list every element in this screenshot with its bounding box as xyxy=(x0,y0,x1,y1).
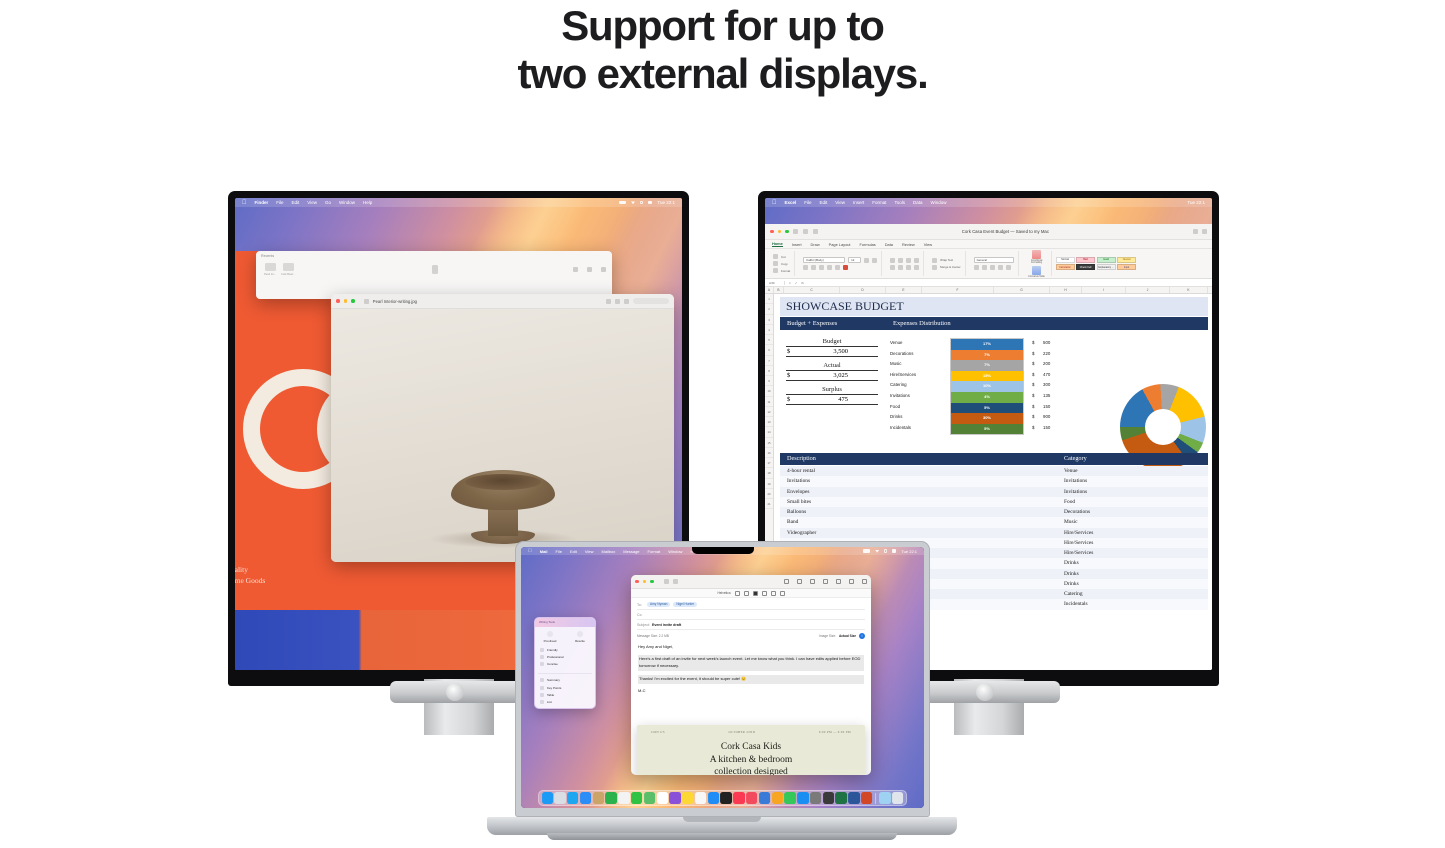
menu-item-data[interactable]: Data xyxy=(913,200,923,205)
menu-item-edit[interactable]: Edit xyxy=(292,200,300,205)
dock-icon-news[interactable] xyxy=(746,792,757,803)
clipboard-copy[interactable]: Copy xyxy=(773,261,790,266)
indent-icon[interactable] xyxy=(780,591,785,596)
row-15[interactable]: 15 xyxy=(765,438,773,448)
dock-icon-calculator[interactable] xyxy=(823,792,834,803)
col-c[interactable]: C xyxy=(784,287,840,293)
format-label: List xyxy=(547,700,552,704)
insert-function-icon[interactable]: fx xyxy=(801,281,803,285)
increase-decimal-icon[interactable] xyxy=(998,265,1003,270)
align-bottom-icon[interactable] xyxy=(906,258,911,263)
list-icon[interactable] xyxy=(771,591,776,596)
row-19[interactable]: 19 xyxy=(765,479,773,489)
poster-text-line-2: ...me Goods xyxy=(235,575,265,586)
menu-item-edit[interactable]: Edit xyxy=(820,200,828,205)
maximize-icon[interactable] xyxy=(351,299,355,303)
attach-icon[interactable] xyxy=(673,579,678,584)
mail-compose-window[interactable]: Helvetica To: Amy Nyman Nigel Hunter xyxy=(631,575,871,775)
markup-icon[interactable] xyxy=(606,299,611,304)
apple-menu-icon[interactable]:  xyxy=(528,549,532,554)
format-font-select[interactable]: Helvetica xyxy=(717,591,730,595)
row-13[interactable]: 13 xyxy=(765,417,773,427)
menu-item-file[interactable]: File xyxy=(556,549,562,554)
menu-item-view[interactable]: View xyxy=(835,200,845,205)
underline-icon[interactable] xyxy=(819,265,824,270)
dock-icon-calendar[interactable] xyxy=(657,792,668,803)
dock-icon-numbers[interactable] xyxy=(784,792,795,803)
col-b[interactable]: B xyxy=(774,287,784,293)
category-label: Incidentals xyxy=(890,423,948,434)
redo-icon[interactable] xyxy=(813,229,818,234)
sidebar-icon[interactable] xyxy=(364,299,369,304)
mail-header-fields[interactable]: To: Amy Nyman Nigel Hunter Cc: Subject: … xyxy=(631,598,871,630)
tab-page-layout[interactable]: Page Layout xyxy=(829,242,851,247)
subject-field-row[interactable]: Subject: Event invite draft xyxy=(637,621,865,628)
alignment-row-2[interactable] xyxy=(890,265,919,270)
minimize-icon[interactable] xyxy=(344,299,348,303)
markup-icon[interactable] xyxy=(797,579,802,584)
ribbon-group-alignment[interactable] xyxy=(886,251,924,276)
dock-icon-music[interactable] xyxy=(733,792,744,803)
bold-icon[interactable] xyxy=(803,265,808,270)
preview-toolbar[interactable]: Pearl Interior-writing.jpg xyxy=(331,294,674,309)
amount-row: $300 xyxy=(1032,380,1072,391)
clipboard-cut[interactable]: Cut xyxy=(773,254,790,259)
style-normal[interactable]: Normal xyxy=(1056,257,1075,263)
align-top-icon[interactable] xyxy=(890,258,895,263)
alignment-row-1[interactable] xyxy=(890,258,919,263)
image-size-label: Image Size: xyxy=(819,634,836,638)
italic-icon[interactable] xyxy=(744,591,749,596)
dock-icon-settings[interactable] xyxy=(810,792,821,803)
summary-actual-value-row: $ 3,025 xyxy=(786,371,878,381)
writing-tools-tones[interactable]: Friendly Professional Concise xyxy=(535,646,595,672)
expenses-distribution-chart: Venue Decorations Music Hire/Services Ca… xyxy=(890,338,1208,444)
borders-icon[interactable] xyxy=(827,265,832,270)
autosave-icon[interactable] xyxy=(793,229,798,234)
percent-icon[interactable] xyxy=(982,265,987,270)
cell-styles-gallery[interactable]: Normal Bad Good Neutral Calculation Chec… xyxy=(1056,251,1137,276)
row-2[interactable]: 2 xyxy=(765,304,773,314)
row-4[interactable]: 4 xyxy=(765,325,773,335)
row-21[interactable]: 21 xyxy=(765,499,773,509)
tab-formulas[interactable]: Formulas xyxy=(860,242,876,247)
dock-icon-safari[interactable] xyxy=(567,792,578,803)
col-j[interactable]: J xyxy=(1126,287,1170,293)
excel-ribbon-tabs[interactable]: Home Insert Draw Page Layout Formulas Da… xyxy=(765,240,1212,249)
friendly-icon xyxy=(540,648,544,652)
macos-dock[interactable] xyxy=(538,790,908,806)
cc-field-row[interactable]: Cc: xyxy=(637,611,865,618)
decrease-font-icon[interactable] xyxy=(872,258,877,263)
align-middle-icon[interactable] xyxy=(898,258,903,263)
cell-category: Hire/Services xyxy=(1064,548,1093,558)
dock-icon-maps[interactable] xyxy=(644,792,655,803)
cut-icon xyxy=(773,254,778,259)
finder-file-item[interactable]: Cork Bowl... xyxy=(280,263,296,276)
close-icon[interactable] xyxy=(770,230,774,234)
font-color-icon[interactable] xyxy=(843,265,848,270)
bold-icon[interactable] xyxy=(735,591,740,596)
col-k[interactable]: K xyxy=(1170,287,1208,293)
number-format-select[interactable]: General xyxy=(974,257,1014,263)
name-box[interactable]: A30 xyxy=(769,281,785,285)
dock-icon-trash[interactable] xyxy=(892,792,903,803)
tone-label: Professional xyxy=(547,655,564,659)
currency-icon[interactable] xyxy=(974,265,979,270)
style-neutral[interactable]: Neutral xyxy=(1117,257,1136,263)
finder-toolbar[interactable]: Pearl Int... Cork Bowl... xyxy=(256,258,612,276)
cell-description: Small bites xyxy=(787,497,811,507)
apple-menu-icon[interactable]:  xyxy=(242,200,247,206)
format-icon[interactable] xyxy=(836,579,841,584)
excel-title-bar[interactable]: Cork Casa Event Budget — Saved to my Mac xyxy=(765,224,1212,240)
category-label: Catering xyxy=(890,380,948,391)
menu-item-help[interactable]: Help xyxy=(363,200,372,205)
row-1[interactable]: 1 xyxy=(765,294,773,304)
comments-icon[interactable] xyxy=(1193,229,1198,234)
writing-tools-formats[interactable]: Summary Key Points Table List xyxy=(535,676,595,709)
font-name-select[interactable]: Calibri (Body) xyxy=(803,257,845,263)
font-style-row[interactable] xyxy=(803,265,877,270)
dock-icon-reminders[interactable] xyxy=(695,792,706,803)
merge-cells-icon xyxy=(932,265,937,270)
column-headers[interactable]: A B C D E F G H I J K xyxy=(765,287,1212,294)
format-label: Format xyxy=(781,269,790,273)
tags-icon[interactable] xyxy=(587,267,592,272)
share-icon[interactable] xyxy=(573,267,578,272)
tab-review[interactable]: Review xyxy=(902,242,915,247)
image-size-value[interactable]: Actual Size xyxy=(839,634,856,638)
format-as-table-button[interactable]: Format as Table xyxy=(1027,266,1047,278)
close-icon[interactable] xyxy=(635,580,639,584)
dock-icon-appstore[interactable] xyxy=(797,792,808,803)
menu-item-message[interactable]: Message xyxy=(623,549,639,554)
col-i[interactable]: I xyxy=(1082,287,1126,293)
format-table[interactable]: Table xyxy=(540,691,590,698)
col-h[interactable]: H xyxy=(1050,287,1082,293)
cancel-formula-icon[interactable]: × xyxy=(789,281,791,285)
indent-icon[interactable] xyxy=(914,265,919,270)
menu-item-file[interactable]: File xyxy=(276,200,283,205)
finder-file-item[interactable]: Pearl Int... xyxy=(262,263,278,276)
merge-center-button[interactable]: Merge & Center xyxy=(932,265,960,270)
menu-item-format[interactable]: Format xyxy=(648,549,661,554)
cell-category: Drinks xyxy=(1064,558,1079,568)
style-explanatory[interactable]: Explanatory ... xyxy=(1097,264,1116,270)
table-row[interactable]: EnvelopesInvitations xyxy=(780,487,1208,497)
body-signature: M-C xyxy=(638,688,864,695)
excel-ribbon[interactable]: Cut Copy Format Calibri (Body) 12 xyxy=(765,249,1212,279)
ribbon-group-font[interactable]: Calibri (Body) 12 xyxy=(799,251,882,276)
increase-font-icon[interactable] xyxy=(864,258,869,263)
dock-icon-freeform[interactable] xyxy=(708,792,719,803)
emoji-icon[interactable] xyxy=(823,579,828,584)
battery-icon[interactable] xyxy=(619,201,626,204)
dock-icon-mail[interactable] xyxy=(580,792,591,803)
fill-color-icon[interactable] xyxy=(835,265,840,270)
dock-icon-pages[interactable] xyxy=(772,792,783,803)
number-buttons-row[interactable] xyxy=(974,265,1014,270)
row-9[interactable]: 9 xyxy=(765,376,773,386)
clipboard-format[interactable]: Format xyxy=(773,268,790,273)
style-calculation[interactable]: Calculation xyxy=(1056,264,1075,270)
dock-icon-excel[interactable] xyxy=(836,792,847,803)
to-field-row[interactable]: To: Amy Nyman Nigel Hunter xyxy=(637,601,865,608)
macbook-lid-notch xyxy=(683,817,761,822)
rewrite-label: Rewrite xyxy=(575,639,585,643)
style-good[interactable]: Good xyxy=(1097,257,1116,263)
table-header-description: Description xyxy=(787,455,816,462)
table-row[interactable]: Small bitesFood xyxy=(780,497,1208,507)
align-center-icon[interactable] xyxy=(898,265,903,270)
table-row[interactable]: BandMusic xyxy=(780,517,1208,527)
tab-view[interactable]: View xyxy=(924,242,932,247)
search-icon[interactable] xyxy=(640,201,643,204)
ribbon-group-clipboard[interactable]: Cut Copy Format xyxy=(769,251,795,276)
row-7[interactable]: 7 xyxy=(765,356,773,366)
row-8[interactable]: 8 xyxy=(765,366,773,376)
menu-item-insert[interactable]: Insert xyxy=(853,200,864,205)
text-color-icon[interactable] xyxy=(753,591,758,596)
row-20[interactable]: 20 xyxy=(765,489,773,499)
dock-icon-contacts[interactable] xyxy=(593,792,604,803)
rotate-icon[interactable] xyxy=(615,299,620,304)
mail-attachment-meta[interactable]: Message Size: 2.2 MB Image Size: Actual … xyxy=(631,631,871,641)
section-header-bar: Budget + Expenses Expenses Distribution xyxy=(780,317,1208,330)
menu-item-window[interactable]: Window xyxy=(339,200,355,205)
row-11[interactable]: 11 xyxy=(765,397,773,407)
tone-professional[interactable]: Professional xyxy=(540,654,590,661)
style-input[interactable]: Input xyxy=(1117,264,1136,270)
dock-icon-powerpoint[interactable] xyxy=(861,792,872,803)
row-12[interactable]: 12 xyxy=(765,407,773,417)
tone-concise[interactable]: Concise xyxy=(540,661,590,668)
table-row[interactable]: 4-hour rentalVenue xyxy=(780,466,1208,476)
sticker-icon[interactable] xyxy=(849,579,854,584)
col-e[interactable]: E xyxy=(886,287,922,293)
row-17[interactable]: 17 xyxy=(765,458,773,468)
number-format-row[interactable]: General xyxy=(974,257,1014,263)
stand-hole-icon xyxy=(446,683,464,701)
format-list[interactable]: List xyxy=(540,698,590,705)
menu-status-area[interactable]: Tue 22:1 xyxy=(619,200,675,205)
col-f[interactable]: F xyxy=(922,287,994,293)
control-center-icon[interactable] xyxy=(648,201,652,204)
link-icon[interactable] xyxy=(784,579,789,584)
menu-item-tools[interactable]: Tools xyxy=(895,200,906,205)
rewrite-button[interactable]: Rewrite xyxy=(565,631,595,643)
dock-icon-messages[interactable] xyxy=(631,792,642,803)
image-size-control[interactable]: Image Size: Actual Size i xyxy=(819,633,865,639)
conditional-formatting-button[interactable]: Conditional Formatting xyxy=(1027,250,1047,264)
align-right-icon[interactable] xyxy=(906,265,911,270)
dock-icon-keynote[interactable] xyxy=(759,792,770,803)
row-3[interactable]: 3 xyxy=(765,315,773,325)
share-icon[interactable] xyxy=(1202,229,1207,234)
font-row[interactable]: Calibri (Body) 12 xyxy=(803,257,877,263)
amount-value: 470 xyxy=(1043,372,1050,377)
preview-window[interactable]: Pearl Interior-writing.jpg xyxy=(331,294,674,562)
dock-icon-notes[interactable] xyxy=(682,792,693,803)
apple-intelligence-icon[interactable] xyxy=(862,579,867,584)
currency-symbol: $ xyxy=(1032,359,1043,370)
recipient-chip[interactable]: Amy Nyman xyxy=(647,602,670,608)
mail-toolbar[interactable] xyxy=(631,575,871,589)
copy-label: Copy xyxy=(781,262,788,266)
style-check-cell[interactable]: Check Cell xyxy=(1076,264,1095,270)
finder-right-icons[interactable] xyxy=(573,267,606,272)
menu-clock[interactable]: Tue 22:1 xyxy=(657,200,675,205)
maximize-icon[interactable] xyxy=(785,230,789,234)
col-g[interactable]: G xyxy=(994,287,1050,293)
percent-bar: 30% xyxy=(951,413,1023,424)
currency-symbol: $ xyxy=(1032,423,1043,434)
menu-item-go[interactable]: Go xyxy=(325,200,331,205)
quick-access-toolbar[interactable] xyxy=(793,229,818,234)
comma-icon[interactable] xyxy=(990,265,995,270)
cell-category: Invitations xyxy=(1064,487,1087,497)
row-6[interactable]: 6 xyxy=(765,345,773,355)
ribbon-group-styles[interactable]: Conditional Formatting Format as Table xyxy=(1023,251,1052,276)
ribbon-group-wrap[interactable]: Wrap Text Merge & Center xyxy=(928,251,965,276)
format-summary[interactable]: Summary xyxy=(540,677,590,684)
concise-icon xyxy=(540,662,544,666)
writing-tools-title: Writing Tools xyxy=(535,618,595,627)
currency-symbol: $ xyxy=(1032,402,1043,413)
category-label: Music xyxy=(890,359,948,370)
summary-surplus: Surplus $ 475 xyxy=(786,386,878,405)
menu-app-name[interactable]: Mail xyxy=(540,549,548,554)
minimize-icon[interactable] xyxy=(643,580,647,584)
col-d[interactable]: D xyxy=(840,287,886,293)
mail-body[interactable]: Hey Amy and Nigel, Here's a first draft … xyxy=(631,641,871,698)
recipient-chip[interactable]: Nigel Hunter xyxy=(673,602,697,608)
font-size-select[interactable]: 12 xyxy=(848,257,861,263)
table-row[interactable]: BalloonsDecorations xyxy=(780,507,1208,517)
confirm-formula-icon[interactable]: ✓ xyxy=(795,281,798,285)
dock-icon-downloads[interactable] xyxy=(879,792,890,803)
menu-item-file[interactable]: File xyxy=(804,200,811,205)
tab-insert[interactable]: Insert xyxy=(792,242,802,247)
left-menu-bar[interactable]:  Finder File Edit View Go Window Help T… xyxy=(235,198,682,207)
dock-icon-facetime[interactable] xyxy=(605,792,616,803)
orientation-icon[interactable] xyxy=(914,258,919,263)
menu-clock[interactable]: Tue 22:1 xyxy=(1187,200,1205,205)
right-menu-bar[interactable]:  Excel File Edit View Insert Format Too… xyxy=(765,198,1212,207)
minimize-icon[interactable] xyxy=(778,230,782,234)
table-row[interactable]: InvitationsInvitations xyxy=(780,476,1208,486)
writing-tools-primary-actions[interactable]: Proofread Rewrite xyxy=(535,627,595,646)
invite-attachment[interactable]: JOIN US OCTOBER 22ND 6:00 PM — 9:00 PM C… xyxy=(637,725,865,775)
currency-symbol: $ xyxy=(1032,391,1043,402)
dock-icon-word[interactable] xyxy=(848,792,859,803)
wrap-text-button[interactable]: Wrap Text xyxy=(932,258,960,263)
close-icon[interactable] xyxy=(336,299,340,303)
tab-data[interactable]: Data xyxy=(885,242,893,247)
to-label: To: xyxy=(637,603,644,607)
mail-toolbar-right-icons[interactable] xyxy=(784,579,867,584)
menu-item-view[interactable]: View xyxy=(585,549,594,554)
italic-icon[interactable] xyxy=(811,265,816,270)
dock-icon-finder[interactable] xyxy=(542,792,553,803)
col-a[interactable]: A xyxy=(765,287,774,293)
menu-status-area[interactable]: Tue 22:1 xyxy=(863,549,917,554)
invite-title-line-1: Cork Casa Kids xyxy=(637,741,865,754)
row-18[interactable]: 18 xyxy=(765,468,773,478)
finder-window[interactable]: Recents Pearl Int... Cork Bowl... xyxy=(256,251,612,299)
maximize-icon[interactable] xyxy=(650,580,654,584)
ribbon-group-number[interactable]: General xyxy=(970,251,1019,276)
menu-app-name[interactable]: Excel xyxy=(785,200,797,205)
expenses-table-header: Description Category xyxy=(780,453,1208,465)
dock-icon-launchpad[interactable] xyxy=(554,792,565,803)
invite-title-line-2: A kitchen & bedroom xyxy=(637,754,865,767)
wifi-icon[interactable] xyxy=(631,201,635,204)
preview-image-canvas xyxy=(331,309,674,562)
row-5[interactable]: 5 xyxy=(765,335,773,345)
menu-app-name[interactable]: Finder xyxy=(255,200,269,205)
row-14[interactable]: 14 xyxy=(765,427,773,437)
share-icon[interactable] xyxy=(624,299,629,304)
cell-category: Music xyxy=(1064,517,1077,527)
table-row[interactable]: VideographerHire/Services xyxy=(780,528,1208,538)
menu-item-mailbox[interactable]: Mailbox xyxy=(602,549,616,554)
currency-symbol: $ xyxy=(787,348,790,355)
format-key-points[interactable]: Key Points xyxy=(540,684,590,691)
photo-icon[interactable] xyxy=(810,579,815,584)
info-icon[interactable]: i xyxy=(859,633,865,639)
sheet-title: SHOWCASE BUDGET xyxy=(780,297,1208,316)
menu-item-format[interactable]: Format xyxy=(872,200,886,205)
align-left-icon[interactable] xyxy=(890,265,895,270)
menu-item-view[interactable]: View xyxy=(307,200,317,205)
control-center-icon[interactable] xyxy=(892,549,896,552)
dock-icon-tv[interactable] xyxy=(721,792,732,803)
tone-friendly[interactable]: Friendly xyxy=(540,647,590,654)
preview-window-title: Pearl Interior-writing.jpg xyxy=(373,299,417,304)
menu-item-window[interactable]: Window xyxy=(931,200,947,205)
send-icon[interactable] xyxy=(664,579,669,584)
menu-clock[interactable]: Tue 22:1 xyxy=(901,549,917,554)
cell-description: Balloons xyxy=(787,507,806,517)
tab-home[interactable]: Home xyxy=(772,241,783,247)
search-icon[interactable] xyxy=(884,549,887,552)
dock-icon-podcasts[interactable] xyxy=(669,792,680,803)
invite-title-line-3: collection designed xyxy=(637,766,865,775)
tab-draw[interactable]: Draw xyxy=(811,242,820,247)
row-16[interactable]: 16 xyxy=(765,448,773,458)
battery-icon[interactable] xyxy=(863,549,870,552)
search-input[interactable] xyxy=(633,298,669,304)
menu-item-window[interactable]: Window xyxy=(668,549,682,554)
search-icon[interactable] xyxy=(601,267,606,272)
wifi-icon[interactable] xyxy=(875,549,879,552)
menu-item-edit[interactable]: Edit xyxy=(570,549,577,554)
formula-bar[interactable]: A30 × ✓ fx xyxy=(765,279,1212,287)
dock-icon-photos[interactable] xyxy=(618,792,629,803)
writing-tools-panel[interactable]: Writing Tools Proofread Rewrite Friendly xyxy=(534,617,596,709)
align-icon[interactable] xyxy=(762,591,767,596)
proofread-button[interactable]: Proofread xyxy=(535,631,565,643)
mail-format-bar[interactable]: Helvetica xyxy=(631,589,871,598)
apple-menu-icon[interactable]:  xyxy=(772,200,777,206)
decrease-decimal-icon[interactable] xyxy=(1006,265,1011,270)
style-bad[interactable]: Bad xyxy=(1076,257,1095,263)
subject-value[interactable]: Event invite draft xyxy=(652,623,681,627)
row-10[interactable]: 10 xyxy=(765,386,773,396)
undo-icon[interactable] xyxy=(803,229,808,234)
